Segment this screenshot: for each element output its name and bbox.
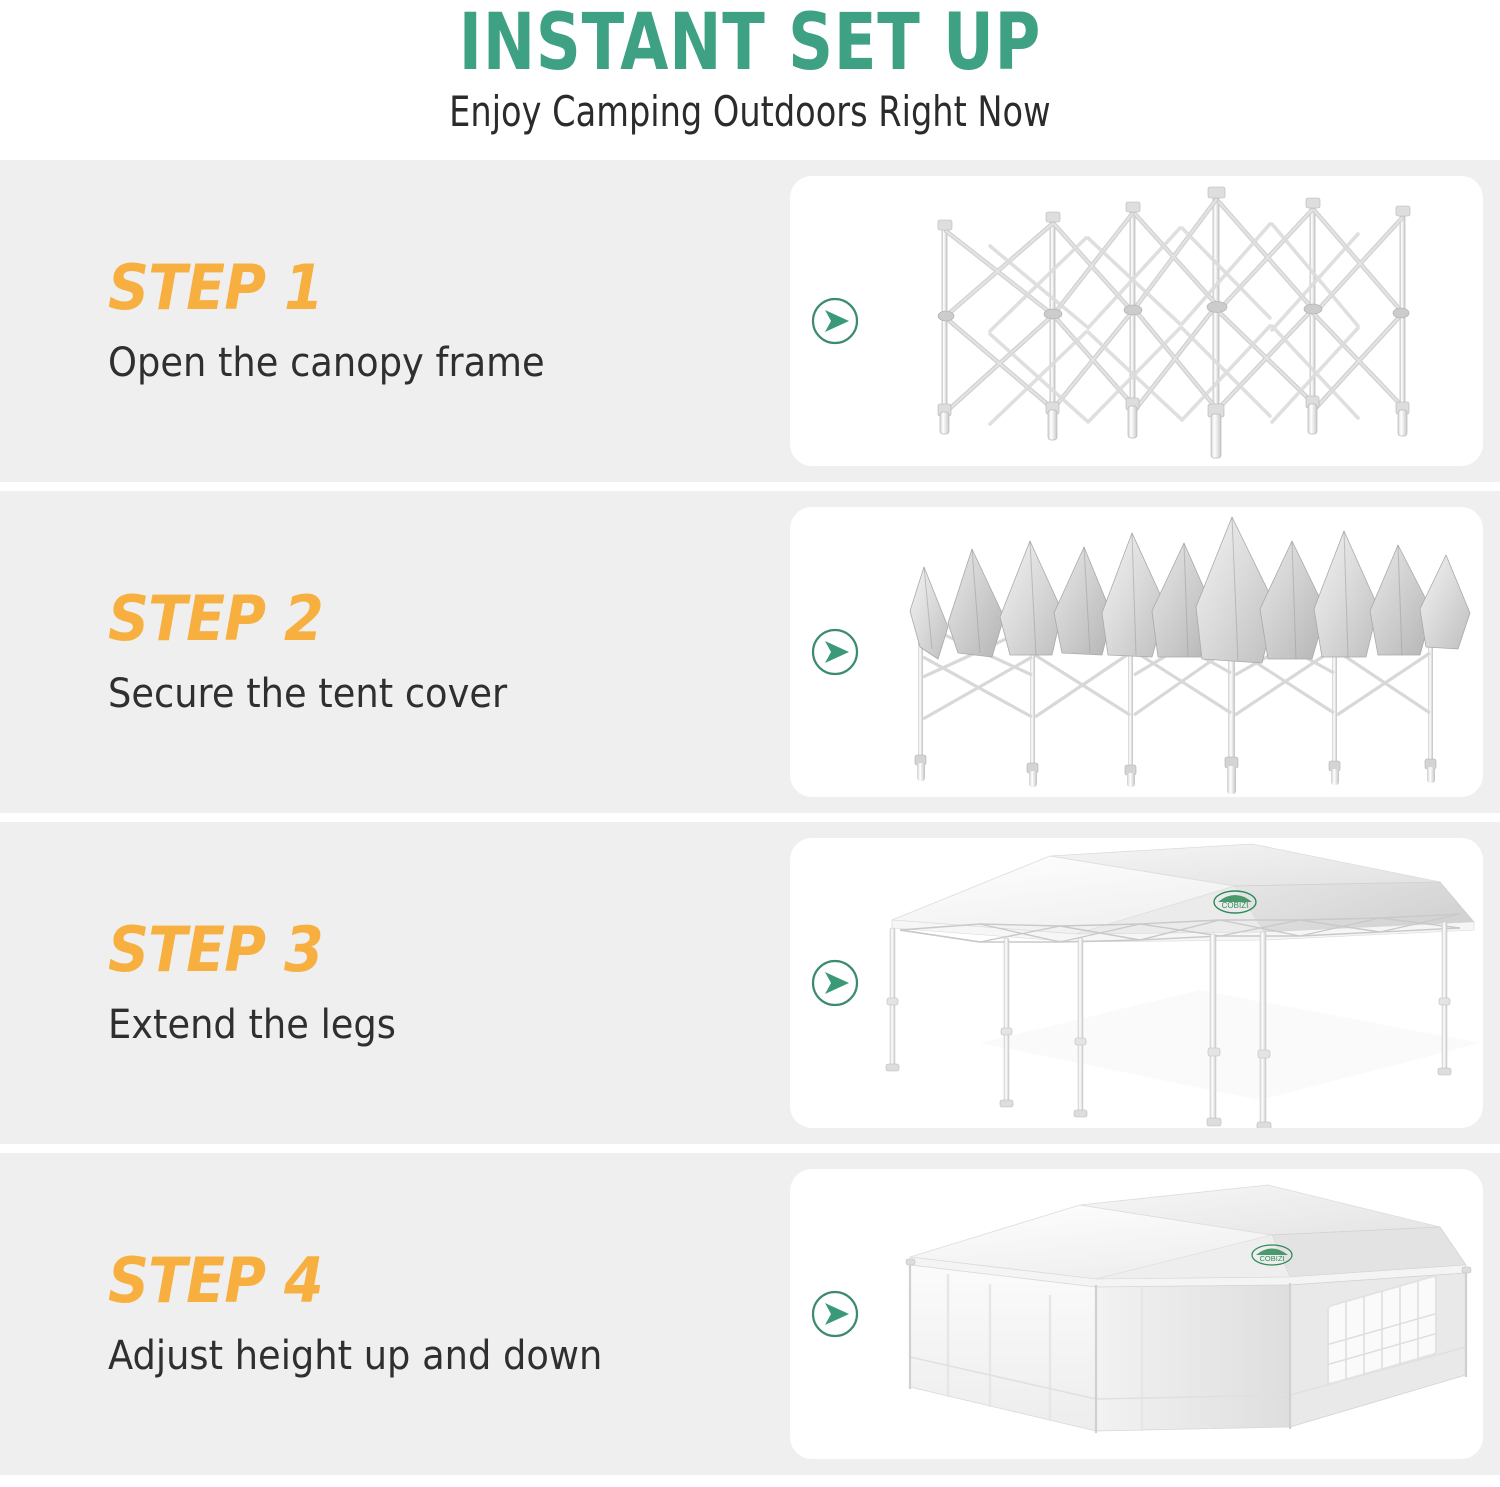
arrow-right-circle-icon	[810, 296, 860, 346]
arrow-right-circle-icon	[810, 1289, 860, 1339]
step-description: Open the canopy frame	[108, 339, 697, 387]
header: INSTANT SET UP Enjoy Camping Outdoors Ri…	[0, 0, 1500, 160]
step-row-2: STEP 2 Secure the tent cover	[0, 491, 1500, 813]
page-subtitle: Enjoy Camping Outdoors Right Now	[449, 88, 1050, 136]
step-label: STEP 1	[108, 255, 697, 321]
step-description: Adjust height up and down	[108, 1332, 697, 1380]
svg-text:COBIZI: COBIZI	[1222, 901, 1249, 910]
step-label: STEP 4	[108, 1248, 697, 1314]
canopy-enclosed-illustration: COBIZI	[880, 1169, 1483, 1459]
step-row-3: STEP 3 Extend the legs	[0, 822, 1500, 1144]
step-text-column: STEP 2 Secure the tent cover	[108, 491, 748, 813]
canopy-cover-illustration	[880, 507, 1483, 797]
canopy-frame-illustration	[880, 176, 1483, 466]
step-image-panel	[790, 507, 1483, 797]
step-description: Secure the tent cover	[108, 670, 697, 718]
svg-text:COBIZI: COBIZI	[1259, 1254, 1284, 1263]
step-image-panel: COBIZI	[790, 838, 1483, 1128]
step-row-1: STEP 1 Open the canopy frame	[0, 160, 1500, 482]
arrow-right-circle-icon	[810, 958, 860, 1008]
arrow-right-circle-icon	[810, 627, 860, 677]
canopy-erected-illustration: COBIZI	[880, 838, 1483, 1128]
page-title: INSTANT SET UP	[459, 2, 1041, 84]
step-description: Extend the legs	[108, 1001, 697, 1049]
infographic-page: INSTANT SET UP Enjoy Camping Outdoors Ri…	[0, 0, 1500, 1487]
step-text-column: STEP 4 Adjust height up and down	[108, 1153, 748, 1475]
step-text-column: STEP 3 Extend the legs	[108, 822, 748, 1144]
steps-list: STEP 1 Open the canopy frame	[0, 160, 1500, 1487]
step-label: STEP 3	[108, 917, 697, 983]
step-row-4: STEP 4 Adjust height up and down	[0, 1153, 1500, 1475]
step-text-column: STEP 1 Open the canopy frame	[108, 160, 748, 482]
step-label: STEP 2	[108, 586, 697, 652]
step-image-panel: COBIZI	[790, 1169, 1483, 1459]
step-image-panel	[790, 176, 1483, 466]
